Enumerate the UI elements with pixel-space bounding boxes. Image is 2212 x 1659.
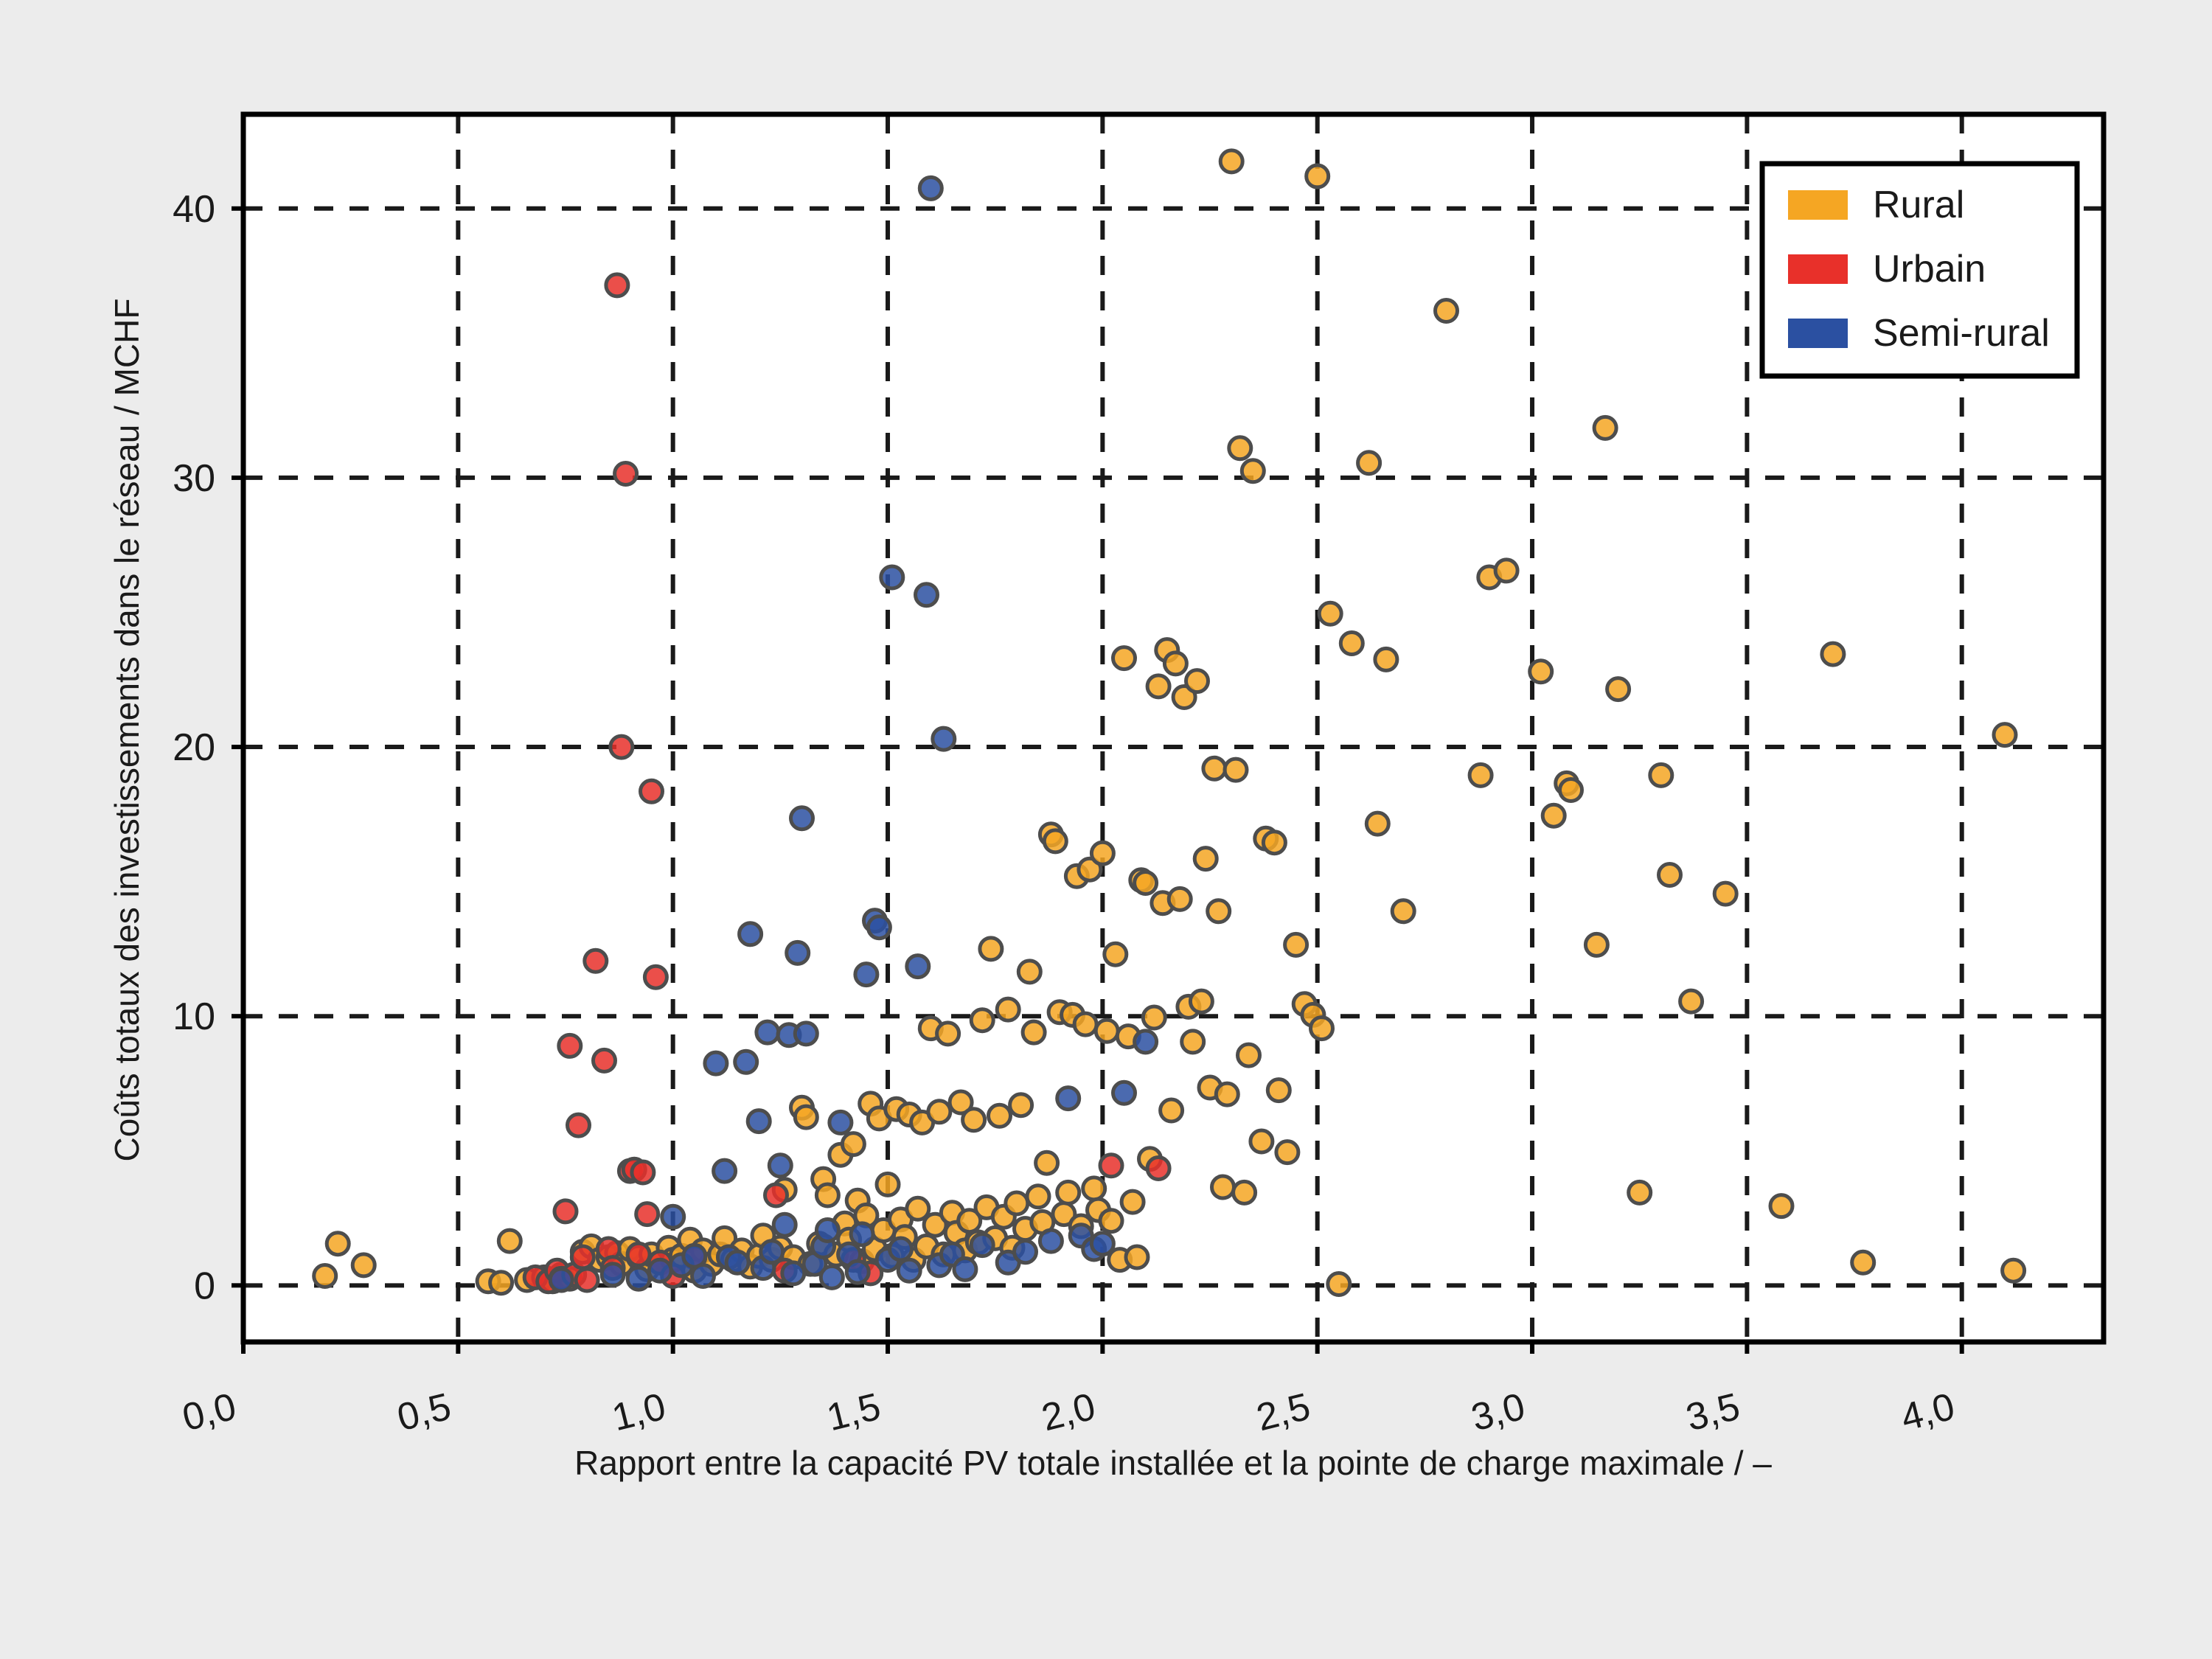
data-point: [855, 964, 877, 986]
data-point: [816, 1184, 838, 1206]
data-point: [769, 1155, 791, 1177]
data-point: [1105, 943, 1127, 965]
data-point: [585, 950, 607, 972]
data-point: [1015, 1241, 1037, 1263]
data-point: [1113, 1082, 1135, 1104]
data-point: [761, 1241, 783, 1263]
data-point: [1629, 1181, 1651, 1203]
data-point: [1328, 1273, 1350, 1295]
data-point: [1366, 813, 1388, 835]
data-point: [615, 463, 637, 485]
data-point: [757, 1021, 779, 1043]
data-point: [1018, 961, 1040, 983]
data-point: [821, 1266, 843, 1288]
data-point: [1143, 1006, 1165, 1029]
data-point: [1074, 1013, 1096, 1035]
data-point: [765, 1184, 787, 1206]
data-point: [1714, 883, 1736, 905]
data-point: [627, 1267, 650, 1290]
data-point: [1530, 661, 1552, 683]
data-point: [1212, 1176, 1234, 1198]
y-tick-label: 20: [173, 726, 215, 769]
data-point: [606, 274, 628, 296]
data-point: [1023, 1021, 1045, 1043]
data-point: [1194, 848, 1217, 870]
legend[interactable]: RuralUrbainSemi-rural: [1762, 164, 2077, 376]
data-point: [641, 780, 663, 802]
legend-swatch-semi-rural: [1788, 319, 1848, 348]
data-point: [1238, 1044, 1260, 1066]
data-point: [1659, 864, 1681, 886]
data-point: [791, 807, 813, 829]
data-point: [1091, 842, 1113, 864]
data-point: [1607, 678, 1630, 700]
data-point: [1036, 1152, 1058, 1174]
data-point: [1267, 1079, 1290, 1102]
data-point: [1560, 779, 1582, 801]
data-point: [881, 566, 903, 588]
data-point: [1216, 1083, 1238, 1105]
data-point: [816, 1220, 838, 1242]
data-point: [773, 1214, 796, 1236]
data-point: [1994, 724, 2016, 746]
data-point: [490, 1272, 512, 1294]
data-point: [980, 938, 1002, 960]
legend-label-urbain: Urbain: [1873, 248, 1986, 291]
data-point: [1770, 1195, 1792, 1217]
data-point: [1680, 990, 1703, 1012]
data-point: [933, 728, 955, 750]
y-tick-label: 40: [173, 188, 215, 231]
data-point: [1285, 933, 1307, 956]
data-point: [1135, 872, 1157, 894]
data-point: [795, 1106, 817, 1128]
data-point: [1225, 759, 1247, 781]
data-point: [1182, 1031, 1204, 1053]
data-point: [1358, 452, 1380, 474]
data-point: [1276, 1141, 1298, 1164]
data-point: [971, 1234, 993, 1256]
data-point: [1135, 1031, 1157, 1053]
data-point: [327, 1233, 349, 1255]
data-point: [1319, 602, 1341, 625]
scatter-plot: 0,00,51,01,52,02,53,03,54,0 010203040 Ra…: [0, 0, 2212, 1659]
data-point: [714, 1160, 736, 1182]
data-point: [1340, 633, 1363, 655]
data-point: [1495, 560, 1517, 582]
legend-swatch-rural: [1788, 190, 1848, 220]
data-point: [1091, 1233, 1113, 1255]
data-point: [1147, 675, 1169, 698]
data-point: [568, 1114, 590, 1136]
data-point: [1113, 647, 1135, 669]
data-point: [554, 1200, 577, 1222]
data-point: [1006, 1192, 1028, 1214]
data-point: [1822, 643, 1844, 665]
data-point: [636, 1203, 658, 1225]
chart-figure: 0,00,51,01,52,02,53,03,54,0 010203040 Ra…: [0, 0, 2212, 1659]
data-point: [705, 1052, 727, 1074]
data-point: [627, 1243, 650, 1265]
data-point: [1650, 764, 1672, 786]
data-point: [735, 1051, 757, 1073]
data-point: [846, 1261, 869, 1283]
data-point: [1543, 804, 1565, 827]
y-tick-label: 10: [173, 995, 215, 1038]
data-point: [692, 1265, 714, 1287]
data-point: [1251, 1130, 1273, 1152]
data-point: [1234, 1181, 1256, 1203]
data-point: [662, 1206, 684, 1228]
data-point: [550, 1269, 572, 1291]
data-point: [851, 1223, 873, 1245]
data-point: [1392, 900, 1414, 922]
data-point: [782, 1262, 804, 1284]
data-point: [963, 1109, 985, 1131]
data-point: [1375, 648, 1397, 670]
data-point: [787, 942, 809, 964]
data-point: [842, 1133, 864, 1155]
data-point: [795, 1023, 817, 1045]
data-point: [1044, 830, 1066, 852]
data-point: [1585, 933, 1607, 956]
data-point: [1190, 990, 1212, 1012]
data-point: [314, 1265, 336, 1287]
data-point: [1100, 1155, 1122, 1177]
data-point: [1186, 670, 1208, 692]
data-point: [919, 177, 942, 199]
data-point: [898, 1259, 920, 1281]
data-point: [1010, 1094, 1032, 1116]
data-point: [632, 1161, 654, 1183]
data-point: [1229, 437, 1251, 459]
data-point: [1220, 150, 1242, 173]
data-point: [740, 923, 762, 945]
data-point: [907, 956, 929, 978]
data-point: [602, 1264, 624, 1286]
data-point: [1083, 1178, 1105, 1200]
data-point: [1203, 757, 1225, 779]
data-point: [971, 1009, 993, 1032]
data-point: [1436, 300, 1458, 322]
data-point: [1594, 417, 1616, 439]
data-point: [1057, 1181, 1079, 1203]
data-point: [1121, 1191, 1144, 1213]
data-point: [877, 1173, 899, 1195]
data-point: [1100, 1210, 1122, 1232]
legend-label-semi-rural: Semi-rural: [1873, 312, 2050, 355]
data-point: [611, 736, 633, 758]
x-axis-title: Rapport entre la capacité PV totale inst…: [574, 1444, 1772, 1482]
data-point: [1852, 1251, 1874, 1273]
data-point: [2003, 1259, 2025, 1281]
data-point: [644, 966, 667, 988]
y-tick-label: 30: [173, 457, 215, 500]
data-point: [1126, 1246, 1148, 1268]
data-point: [829, 1111, 852, 1133]
data-point: [1027, 1186, 1049, 1208]
data-point: [1040, 1230, 1062, 1252]
data-point: [498, 1230, 521, 1252]
data-point: [997, 998, 1019, 1020]
data-point: [916, 584, 938, 606]
data-point: [1147, 1158, 1169, 1180]
data-point: [1311, 1018, 1333, 1040]
data-point: [1242, 460, 1264, 482]
data-point: [576, 1269, 598, 1291]
legend-swatch-urbain: [1788, 254, 1848, 284]
data-point: [1470, 764, 1492, 786]
data-point: [1057, 1088, 1079, 1110]
data-point: [594, 1049, 616, 1071]
data-point: [1164, 653, 1186, 675]
data-point: [954, 1258, 976, 1280]
data-point: [649, 1259, 671, 1281]
data-point: [352, 1254, 375, 1276]
data-point: [989, 1105, 1011, 1127]
data-point: [890, 1238, 912, 1260]
data-point: [937, 1023, 959, 1045]
data-point: [748, 1110, 770, 1133]
data-point: [559, 1034, 581, 1057]
data-point: [1263, 832, 1285, 854]
data-point: [1169, 888, 1191, 910]
data-point: [571, 1246, 594, 1268]
data-point: [1208, 900, 1230, 922]
data-point: [1161, 1099, 1183, 1121]
y-tick-label: 0: [194, 1265, 215, 1307]
data-point: [928, 1101, 950, 1123]
data-point: [726, 1251, 748, 1273]
data-point: [1096, 1020, 1118, 1042]
data-point: [868, 917, 890, 939]
legend-label-rural: Rural: [1873, 184, 1964, 226]
y-axis-title: Coûts totaux des investissements dans le…: [108, 299, 146, 1162]
data-point: [1307, 165, 1329, 187]
